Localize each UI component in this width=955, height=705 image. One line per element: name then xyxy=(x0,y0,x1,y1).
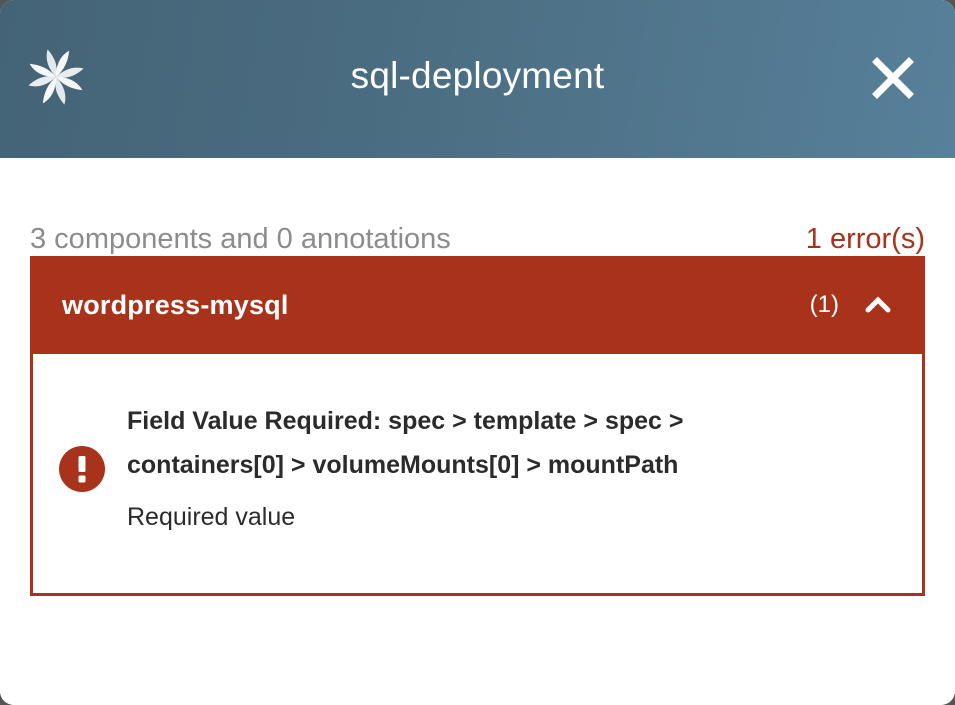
chevron-up-icon[interactable] xyxy=(861,288,895,322)
section-header-toggle[interactable]: wordpress-mysql (1) xyxy=(30,256,925,354)
error-list-item[interactable]: Field Value Required: spec > template > … xyxy=(59,399,896,539)
dialog-title: sql-deployment xyxy=(0,50,955,102)
components-summary-label: 3 components and 0 annotations xyxy=(30,222,451,256)
error-title: Field Value Required: spec > template > … xyxy=(127,399,737,487)
close-button[interactable] xyxy=(867,52,919,104)
dialog-body: 3 components and 0 annotations 1 error(s… xyxy=(0,158,955,705)
section-title: wordpress-mysql xyxy=(62,290,810,321)
dialog-titlebar: sql-deployment xyxy=(0,0,955,158)
section-error-count: (1) xyxy=(810,291,839,319)
error-dialog: sql-deployment 3 components and 0 annota… xyxy=(0,0,955,705)
component-section-wordpress-mysql: wordpress-mysql (1) xyxy=(30,256,925,596)
error-count-label[interactable]: 1 error(s) xyxy=(806,222,925,256)
error-text-block: Field Value Required: spec > template > … xyxy=(127,399,896,539)
close-icon xyxy=(870,55,916,101)
section-content-panel: Field Value Required: spec > template > … xyxy=(30,354,925,596)
summary-row: 3 components and 0 annotations 1 error(s… xyxy=(30,158,925,256)
error-description: Required value xyxy=(127,495,896,539)
error-exclamation-icon xyxy=(59,446,105,492)
